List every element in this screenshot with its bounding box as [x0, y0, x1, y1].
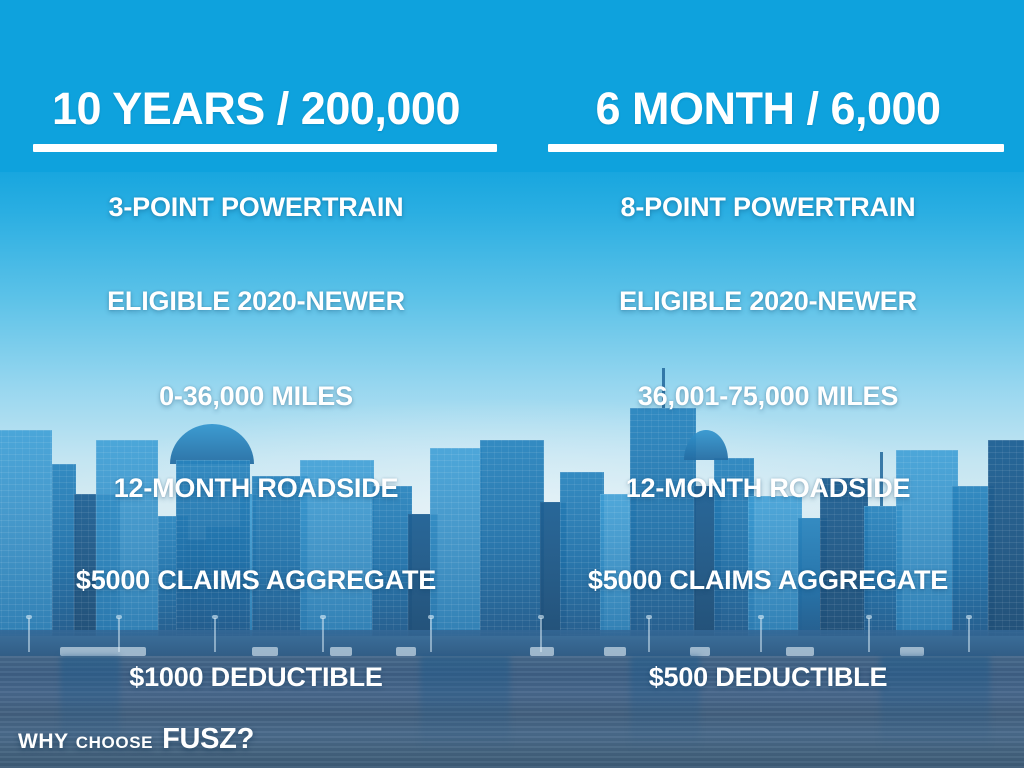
plan-item-left-1: 3-POINT POWERTRAIN	[0, 194, 512, 221]
footer-choose-text: CHOOSE	[76, 733, 153, 753]
footer-why-text: WHY	[18, 730, 69, 754]
plan-item-right-1: 8-POINT POWERTRAIN	[512, 194, 1024, 221]
heading-underline-left	[33, 144, 497, 152]
plan-item-left-3: 0-36,000 MILES	[0, 383, 512, 410]
plan-item-left-2: ELIGIBLE 2020-NEWER	[0, 288, 512, 315]
plan-heading-left: 10 YEARS / 200,000	[0, 86, 512, 131]
plan-item-right-3: 36,001-75,000 MILES	[512, 383, 1024, 410]
footer-brand-name: FUSZ?	[162, 723, 254, 756]
plan-item-right-6: $500 DEDUCTIBLE	[512, 664, 1024, 691]
comparison-content: 10 YEARS / 200,000 3-POINT POWERTRAIN EL…	[0, 0, 1024, 768]
plan-item-left-5: $5000 CLAIMS AGGREGATE	[0, 567, 512, 594]
plan-item-left-6: $1000 DEDUCTIBLE	[0, 664, 512, 691]
plan-heading-right: 6 MONTH / 6,000	[512, 86, 1024, 131]
plan-column-left: 10 YEARS / 200,000 3-POINT POWERTRAIN EL…	[0, 0, 512, 768]
plan-item-right-2: ELIGIBLE 2020-NEWER	[512, 288, 1024, 315]
plan-item-right-5: $5000 CLAIMS AGGREGATE	[512, 567, 1024, 594]
plan-item-left-4: 12-MONTH ROADSIDE	[0, 475, 512, 502]
brand-lockup: WHY CHOOSE FUSZ?	[18, 723, 254, 756]
plan-column-right: 6 MONTH / 6,000 8-POINT POWERTRAIN ELIGI…	[512, 0, 1024, 768]
plan-item-right-4: 12-MONTH ROADSIDE	[512, 475, 1024, 502]
slide: 10 YEARS / 200,000 3-POINT POWERTRAIN EL…	[0, 0, 1024, 768]
heading-underline-right	[548, 144, 1004, 152]
